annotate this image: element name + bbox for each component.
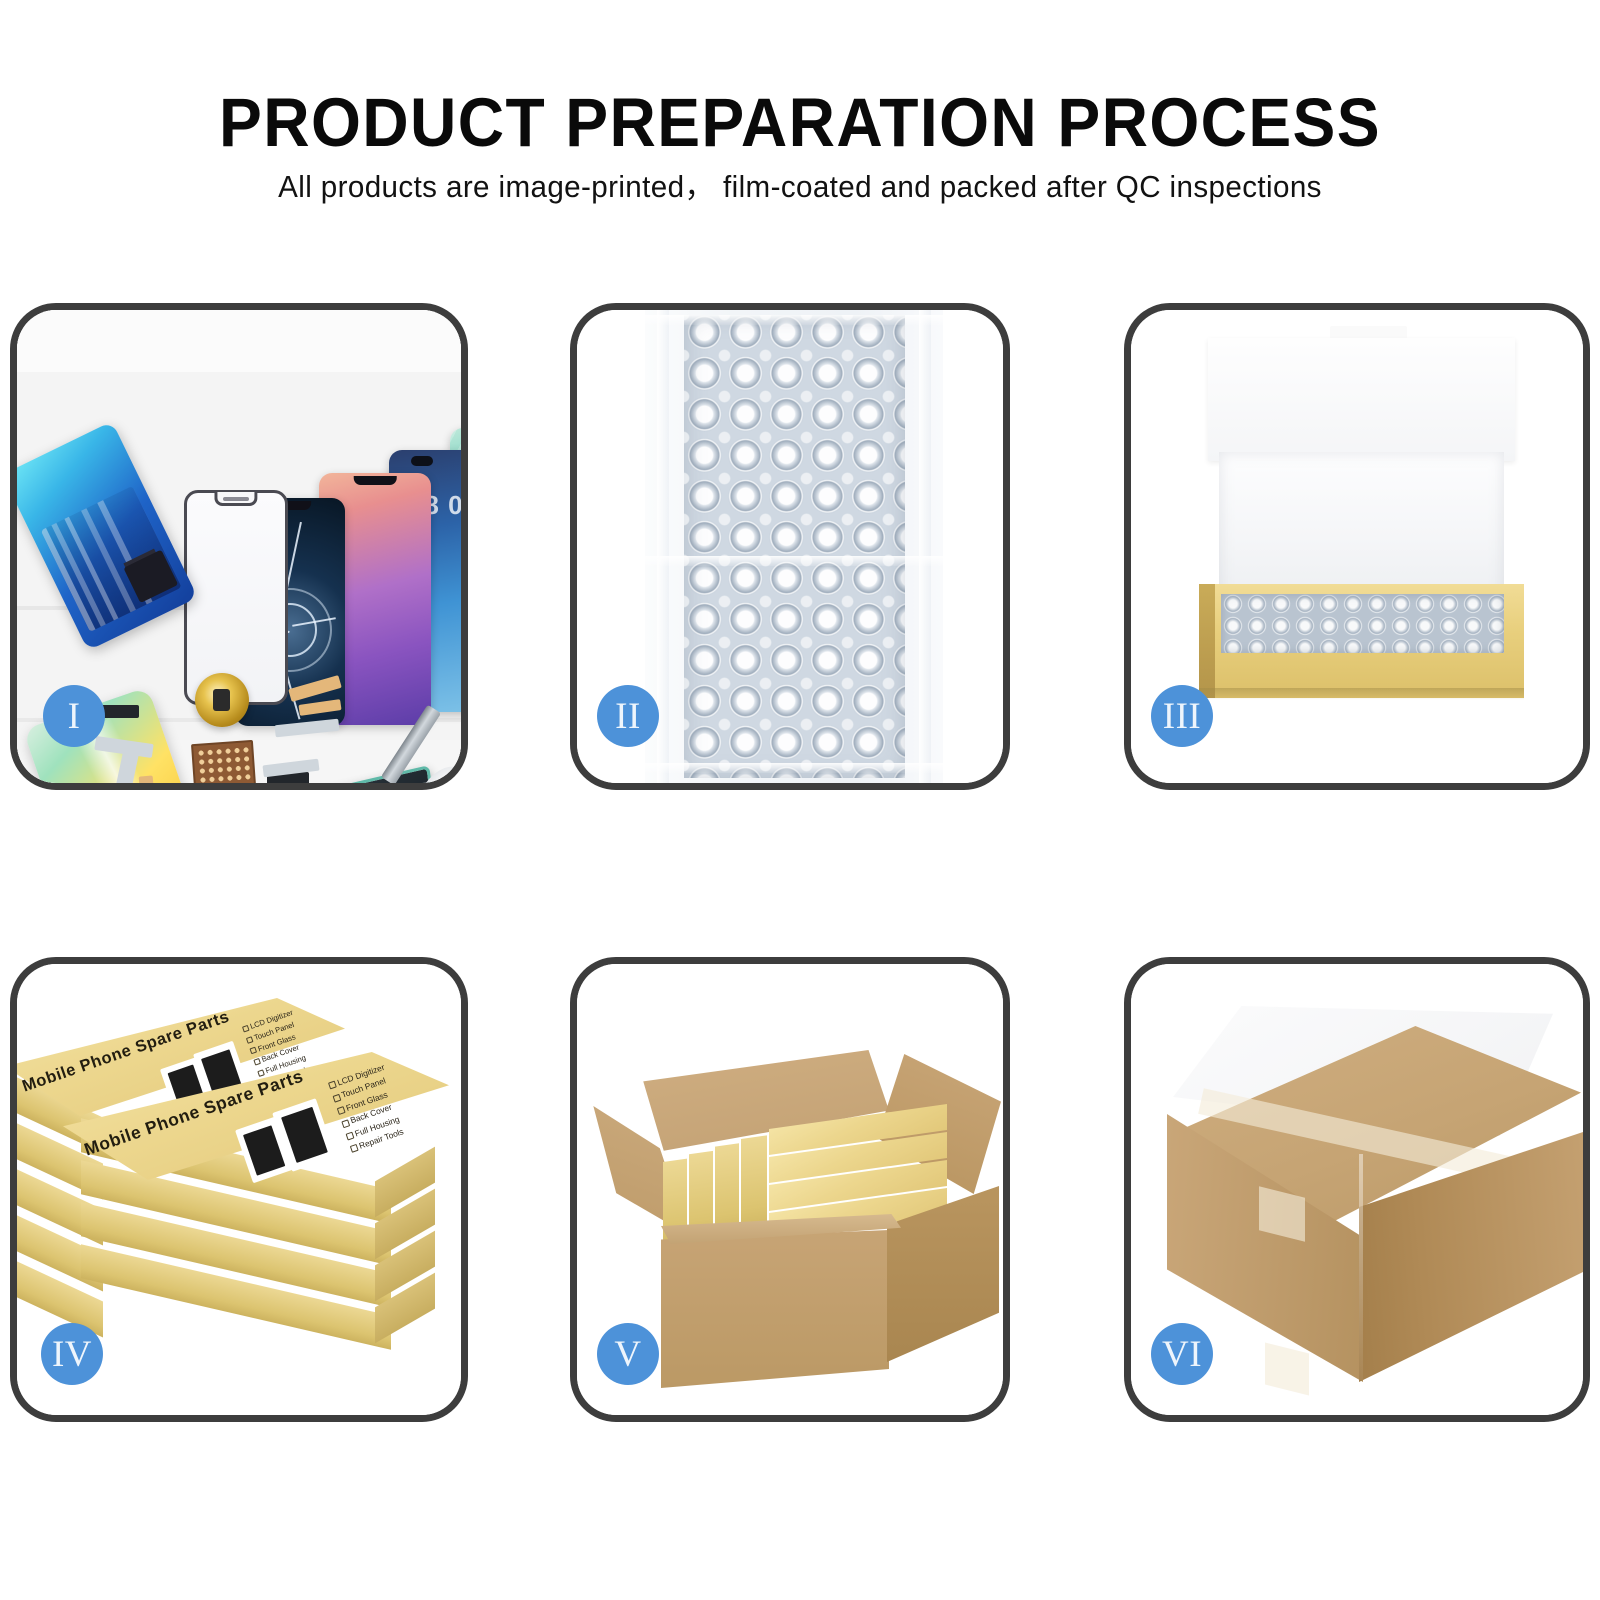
retail-box-top-front: Mobile Phone Spare Parts LCD Digitizer T… [63,1052,461,1200]
checkbox-icon[interactable] [346,1132,355,1141]
step-card-6[interactable]: VI [1124,957,1590,1422]
step-card-4[interactable]: Mobile Phone Spare Parts LCD Digitizer T… [10,957,468,1422]
mailer-lid [1208,338,1515,461]
header: PRODUCT PREPARATION PROCESS All products… [0,0,1600,250]
checkbox-icon[interactable] [328,1081,337,1090]
step-card-3[interactable]: III [1124,303,1590,790]
step-badge-2-label: II [615,698,641,735]
wireless-charging-coil [195,673,249,727]
checkbox-icon[interactable] [341,1119,350,1128]
bga-chip [191,740,257,783]
mailer-tray-side [1199,584,1215,698]
checkbox-icon[interactable] [337,1106,346,1115]
step-badge-3: III [1151,685,1213,747]
step-card-2[interactable]: II [570,303,1010,790]
packing-tape-side-lower [1265,1343,1309,1396]
page-title: PRODUCT PREPARATION PROCESS [56,88,1544,157]
step-badge-1: I [43,685,105,747]
bag-fold-right [919,310,931,783]
step-card-5[interactable]: V [570,957,1010,1422]
notch-icon [354,476,397,485]
step-badge-5: V [597,1323,659,1385]
page-subtitle: All products are image-printed， film-coa… [24,172,1576,203]
screen-protector-glass [184,490,288,705]
bag-seam [645,763,943,773]
bag-seam [645,556,943,566]
checkbox-icon[interactable] [332,1093,341,1102]
phone-screen-graphic [281,1107,328,1163]
bubble-wrap-bubbles [684,315,905,777]
checkbox-icon[interactable] [350,1144,359,1153]
step-badge-4-label: IV [52,1336,92,1373]
bga-ball-grid [196,745,251,783]
carton-front-face [661,1230,889,1388]
step-badge-2: II [597,685,659,747]
bag-seam [645,315,943,325]
step-badge-1-label: I [68,698,81,735]
step-badge-6-label: VI [1162,1336,1202,1373]
step-card-1[interactable]: 08 08 [10,303,468,790]
step-badge-5-label: V [614,1336,641,1373]
collage-band-1 [17,310,461,372]
carton-edge-highlight [1359,1154,1363,1380]
dynamic-island-icon [411,456,433,466]
step-badge-3-label: III [1163,698,1201,735]
bag-fold-left [657,310,669,783]
bubble-wrapped-product [1221,594,1504,653]
bubble-wrap-bag [645,310,943,783]
mailer-tray-shadow [1199,688,1524,700]
step-badge-4: IV [41,1323,103,1385]
speaker-slot-icon [223,497,249,501]
step-badge-6: VI [1151,1323,1213,1385]
